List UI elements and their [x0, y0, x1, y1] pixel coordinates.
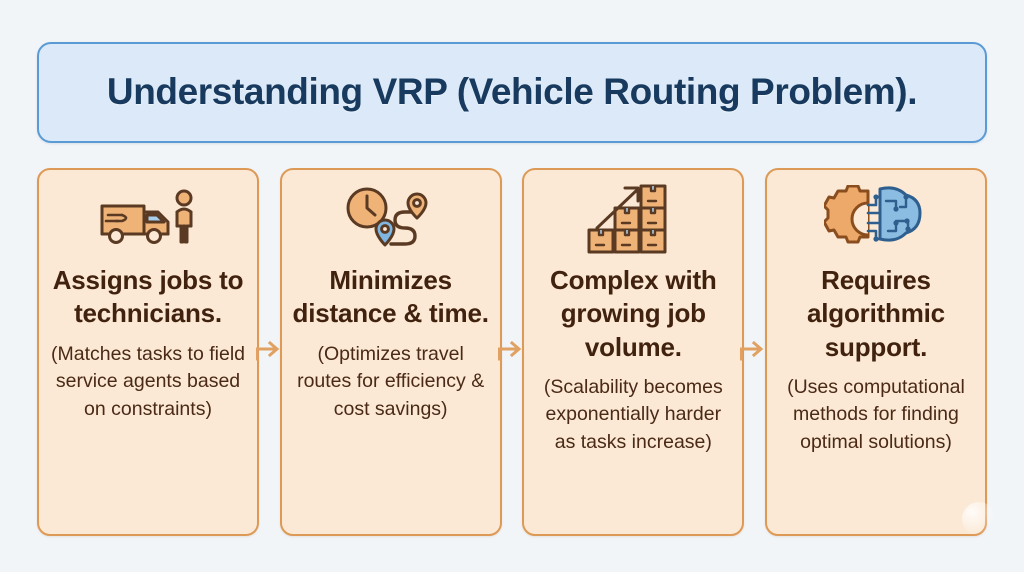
page-title: Understanding VRP (Vehicle Routing Probl… — [107, 72, 917, 113]
card-assigns-jobs[interactable]: Assigns jobs to technicians. (Matches ta… — [37, 168, 259, 536]
card-description: (Uses computational methods for finding … — [777, 374, 975, 457]
card-title: Assigns jobs to technicians. — [49, 264, 247, 331]
card-algorithmic-support[interactable]: Requires algorithmic support. (Uses comp… — [765, 168, 987, 536]
card-title: Minimizes distance & time. — [292, 264, 490, 331]
card-complex-volume[interactable]: Complex with growing job volume. (Scalab… — [522, 168, 744, 536]
card-description: (Optimizes travel routes for efficiency … — [292, 341, 490, 424]
arrow-right-icon-2 — [498, 332, 522, 366]
clock-route-pins-icon — [336, 184, 446, 254]
arrow-right-icon-1 — [256, 332, 280, 366]
card-description: (Matches tasks to field service agents b… — [49, 341, 247, 424]
arrow-right-icon-3 — [740, 332, 764, 366]
gear-brain-ai-icon — [821, 184, 931, 254]
card-minimizes-distance[interactable]: Minimizes distance & time. (Optimizes tr… — [280, 168, 502, 536]
card-description: (Scalability becomes exponentially harde… — [534, 374, 732, 457]
stacked-boxes-growth-arrow-icon — [578, 184, 688, 254]
card-title: Requires algorithmic support. — [777, 264, 975, 364]
card-title: Complex with growing job volume. — [534, 264, 732, 364]
delivery-van-technician-icon — [93, 184, 203, 254]
header-banner: Understanding VRP (Vehicle Routing Probl… — [37, 42, 987, 143]
infographic-page: Understanding VRP (Vehicle Routing Probl… — [0, 0, 1024, 572]
